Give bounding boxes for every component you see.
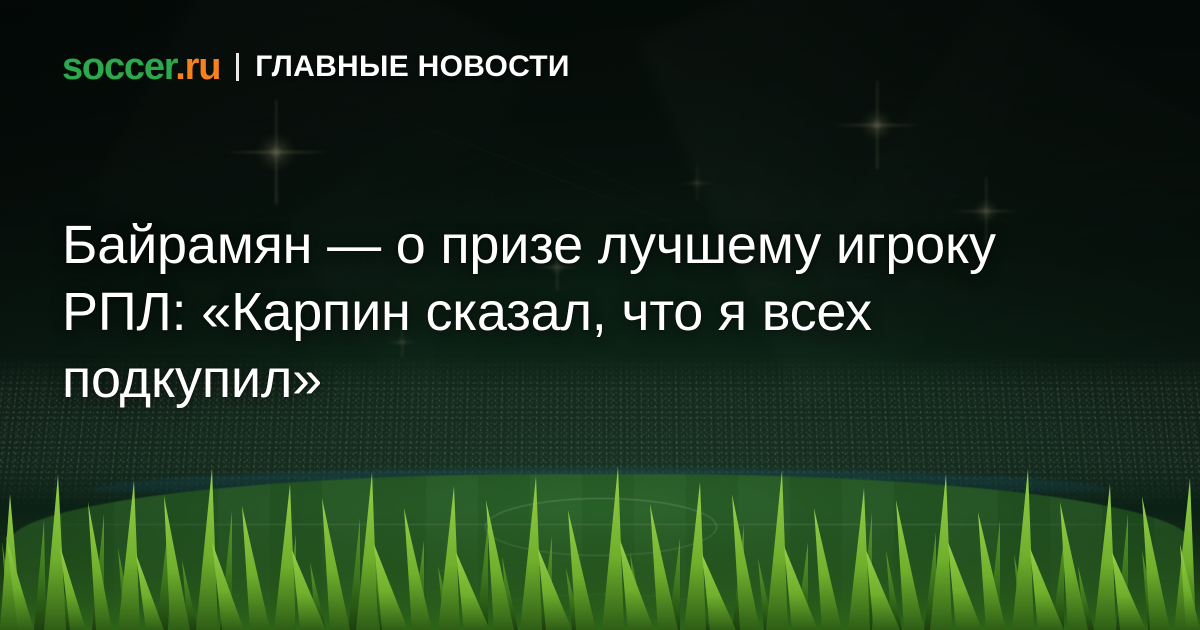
foreground-grass: [0, 450, 1200, 630]
soccer-ru-logo[interactable]: soccer.ru: [62, 48, 220, 86]
headline-line: РПЛ: «Карпин сказал, что я всех: [62, 279, 1152, 346]
header-separator: [236, 53, 239, 81]
card-header: soccer.ru ГЛАВНЫЕ НОВОСТИ: [62, 48, 570, 86]
floodlight-flare-icon: [690, 176, 704, 190]
header-kicker: ГЛАВНЫЕ НОВОСТИ: [255, 52, 570, 82]
page-title: Байрамян — о призе лучшему игроку РПЛ: «…: [62, 212, 1152, 413]
news-share-card: soccer.ru ГЛАВНЫЕ НОВОСТИ Байрамян — о п…: [0, 0, 1200, 630]
logo-tld: .ru: [175, 46, 220, 88]
floodlight-flare-icon: [256, 132, 296, 172]
logo-name: soccer: [62, 46, 175, 88]
headline-line: подкупил»: [62, 346, 1152, 413]
floodlight-flare-icon: [860, 108, 894, 142]
headline-line: Байрамян — о призе лучшему игроку: [62, 212, 1152, 279]
